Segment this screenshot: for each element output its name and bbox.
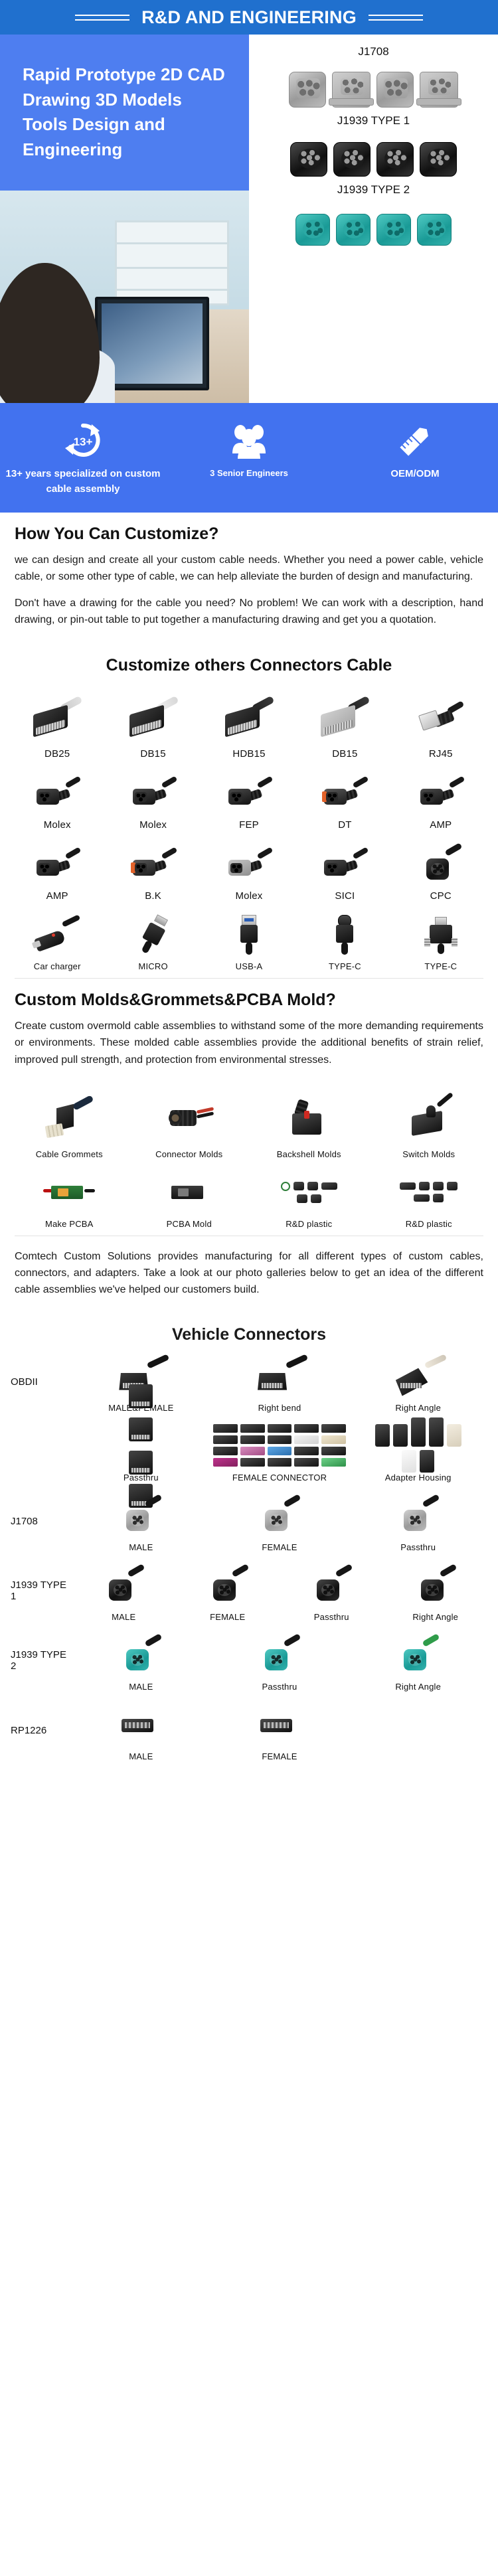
make-pcba-image [11,1168,128,1216]
connector-cell[interactable]: DT [297,764,392,835]
vehicle-row-passthru: Passthru FEMALE CONNECTOR Adapter Hous [0,1417,498,1487]
molds-row-2: Make PCBA PCBA Mold R&D plastic R&D plas… [0,1163,498,1233]
stat-label: 13+ years specialized on custom cable as… [0,461,166,497]
car-charger-image [11,911,104,959]
vehicle-item[interactable]: FEMALE [176,1560,280,1622]
connector-label: Molex [11,817,104,831]
vehicle-row-obdii: OBDII MALE&FEMALE Right bend Right Angle [0,1347,498,1417]
vehicle-connectors-heading: Vehicle Connectors [0,1315,498,1347]
ruler-pencil-icon [332,420,498,461]
pcba-mold-image [131,1168,248,1216]
connector-cell[interactable]: DB25 [9,683,105,764]
j1939-t2-right-angle-image [349,1630,487,1679]
vehicle-row-rp1226: RP1226 MALE FEMALE [0,1696,498,1765]
connector-cell[interactable]: CPC [393,835,489,906]
molds-row-1: Cable Grommets Connector Molds Backshell… [0,1084,498,1163]
connectors-row-3: AMP B.K Molex SICI CPC [0,835,498,906]
stat-oem-odm: OEM/ODM [332,420,498,497]
db15-image [106,688,199,746]
vehicle-item-label: Passthru [349,1540,487,1552]
connector-cell[interactable]: FEP [201,764,297,835]
mold-cell[interactable]: Cable Grommets [9,1084,129,1163]
mold-cell[interactable]: PCBA Mold [129,1163,250,1233]
vehicle-item-label: FEMALE CONNECTOR [210,1470,349,1483]
customize-paragraph-1: we can design and create all your custom… [15,552,483,595]
hero-group-j1708: J1708 [249,39,498,108]
vehicle-item[interactable]: FEMALE [210,1490,349,1552]
connector-label: B.K [106,888,199,902]
vehicle-item-label: Passthru [280,1609,384,1622]
vehicle-item[interactable]: FEMALE [210,1700,349,1761]
connector-cell[interactable]: B.K [105,835,201,906]
vehicle-item[interactable]: Right Angle [384,1560,488,1622]
connector-black-round-icon [420,142,457,177]
molex-image [106,769,199,817]
connector-cell[interactable]: AMP [393,764,489,835]
connector-label: DB15 [298,746,391,760]
obd-right-bend-image [210,1351,349,1400]
connector-label: TYPE-C [394,959,487,971]
connector-gray-round-icon [289,72,326,108]
vehicle-item[interactable]: MALE [72,1490,210,1552]
cpc-image [394,840,487,888]
vehicle-item[interactable]: Passthru [72,1421,210,1483]
connectors-section: Customize others Connectors Cable [0,644,498,683]
vehicle-item-label: Right Angle [349,1400,487,1413]
connector-cell[interactable]: Car charger [9,906,105,975]
vehicle-item-label: FEMALE [210,1540,349,1552]
obd-right-angle-image [349,1351,487,1400]
mold-label: PCBA Mold [131,1216,248,1229]
vehicle-row-j1939-type2: J1939 TYPE 2 MALE Passthru Right Angle [0,1626,498,1696]
solutions-section: Comtech Custom Solutions provides manufa… [0,1236,498,1315]
connector-black-round-icon [290,142,327,177]
molex-image [11,769,104,817]
molex-image [203,840,295,888]
connector-cell[interactable]: TYPE-C [297,906,392,975]
connector-label: TYPE-C [298,959,391,971]
vehicle-row-label: J1708 [11,1516,68,1527]
connector-cell[interactable]: USB-A [201,906,297,975]
female-connector-image [210,1421,349,1470]
connector-cell[interactable]: SICI [297,835,392,906]
j1708-passthru-image [349,1490,487,1540]
amp-image [11,840,104,888]
hdb15-image [203,688,295,746]
vehicle-item-label: FEMALE [210,1749,349,1761]
type-c-image [298,911,391,959]
recycle-13plus-icon: 13+ [0,420,166,461]
mold-cell[interactable]: R&D plastic [249,1163,369,1233]
passthru-image [72,1421,210,1470]
engineering-workstation-photo [0,191,249,403]
connector-label: SICI [298,888,391,902]
vehicle-item[interactable]: MALE [72,1630,210,1692]
j1939-t2-male-image [72,1630,210,1679]
hero-group-j1939-type1: J1939 TYPE 1 [249,108,498,177]
page-banner: R&D AND ENGINEERING [0,0,498,35]
mold-label: R&D plastic [371,1216,488,1229]
svg-text:13+: 13+ [74,436,93,448]
j1939-t1-passthru-image [280,1560,384,1609]
hero-left-column: Rapid Prototype 2D CAD Drawing 3D Models… [0,35,249,403]
vehicle-row-label: J1939 TYPE 2 [11,1649,68,1672]
connector-cell[interactable]: RJ45 [393,683,489,764]
customize-paragraph-2: Don't have a drawing for the cable you n… [15,595,483,638]
vehicle-item-spacer [349,1700,487,1761]
connector-teal-round-icon [376,214,411,246]
molds-section: Custom Molds&Grommets&PCBA Mold? Create … [0,979,498,1084]
vehicle-item[interactable]: Passthru [280,1560,384,1622]
vehicle-item-label: Right Angle [349,1679,487,1692]
sici-image [298,840,391,888]
connectors-heading: Customize others Connectors Cable [15,656,483,683]
vehicle-row-label: RP1226 [11,1725,68,1736]
rp1226-male-image [72,1700,210,1749]
connector-label: Molex [203,888,295,902]
vehicle-item-label: MALE [72,1679,210,1692]
connector-label: DB25 [11,746,104,760]
vehicle-item[interactable]: Right Angle [349,1630,487,1692]
fep-image [203,769,295,817]
banner-rule-right [369,15,423,21]
j1708-female-image [210,1490,349,1540]
vehicle-item[interactable]: Right bend [210,1351,349,1413]
hero-right-column: J1708 J1939 TYPE 1 J1939 TYPE 2 [249,35,498,403]
connector-gray-round-icon [376,72,414,108]
backshell-molds-image [250,1089,368,1147]
vehicle-row-j1708: J1708 MALE FEMALE Passthru [0,1487,498,1556]
connector-label: CPC [394,888,487,902]
mold-cell[interactable]: Backshell Molds [249,1084,369,1163]
connectors-row-4: Car charger MICRO USB-A TYPE-C TYPE-C [0,906,498,975]
vehicle-item-label: FEMALE [176,1609,280,1622]
hero-group-j1939-type2: J1939 TYPE 2 [249,177,498,246]
connector-gray-flange-icon [332,72,371,108]
hero-headline-panel: Rapid Prototype 2D CAD Drawing 3D Models… [0,35,249,191]
mold-cell[interactable]: Connector Molds [129,1084,250,1163]
mold-cell[interactable]: R&D plastic [369,1163,489,1233]
rd-plastic-image [250,1168,368,1216]
mold-cell[interactable]: Switch Molds [369,1084,489,1163]
connector-cell[interactable]: Molex [105,764,201,835]
connector-cell[interactable]: HDB15 [201,683,297,764]
mold-label: Connector Molds [131,1147,248,1159]
db15-gray-image [298,688,391,746]
cable-grommets-image [11,1089,128,1147]
vehicle-item[interactable]: Right Angle [349,1351,487,1413]
connector-label: DB15 [106,746,199,760]
vehicle-item-label: MALE [72,1609,176,1622]
connector-cell[interactable]: AMP [9,835,105,906]
company-stats-band: 13+ 13+ years specialized on custom cabl… [0,403,498,513]
hero-headline: Rapid Prototype 2D CAD Drawing 3D Models… [23,62,226,163]
vehicle-row-j1939-type1: J1939 TYPE 1 MALE FEMALE Passthru Right … [0,1556,498,1626]
connector-black-round-icon [376,142,414,177]
connector-label: DT [298,817,391,831]
rd-plastic-image [371,1168,488,1216]
banner-rule-left [75,15,129,21]
connector-molds-image [131,1089,248,1147]
db25-image [11,688,104,746]
connectors-row-1: DB25 DB15 HDB15 DB15 RJ45 [0,683,498,764]
hero-group-images [249,201,498,246]
connector-label: RJ45 [394,746,487,760]
connector-gray-flange-icon [420,72,458,108]
hero-group-images [249,62,498,108]
connector-label: AMP [11,888,104,902]
vehicle-item[interactable]: Passthru [210,1630,349,1692]
connector-cell[interactable]: DB15 [297,683,392,764]
connector-cell[interactable]: TYPE-C [393,906,489,975]
connector-black-round-icon [333,142,371,177]
mold-label: Backshell Molds [250,1147,368,1159]
amp-image [394,769,487,817]
vehicle-item[interactable]: Passthru [349,1490,487,1552]
mold-label: R&D plastic [250,1216,368,1229]
vehicle-item-label: MALE [72,1540,210,1552]
connector-teal-round-icon [336,214,371,246]
j1708-male-image [72,1490,210,1540]
bk-image [106,840,199,888]
connector-label: Car charger [11,959,104,971]
customize-section: How You Can Customize? we can design and… [0,513,498,644]
vehicle-item[interactable]: MALE [72,1700,210,1761]
rp1226-female-image [210,1700,349,1749]
connector-label: HDB15 [203,746,295,760]
molds-paragraph: Create custom overmold cable assemblies … [15,1018,483,1078]
stat-years-experience: 13+ 13+ years specialized on custom cabl… [0,420,166,497]
connector-label: MICRO [106,959,199,971]
molds-heading: Custom Molds&Grommets&PCBA Mold? [15,991,483,1018]
solutions-paragraph: Comtech Custom Solutions provides manufa… [15,1248,483,1308]
usb-a-image [203,911,295,959]
banner-title: R&D AND ENGINEERING [141,7,357,28]
mold-label: Cable Grommets [11,1147,128,1159]
mold-label: Switch Molds [371,1147,488,1159]
j1939-t1-male-image [72,1560,176,1609]
connector-cell[interactable]: Molex [9,764,105,835]
connector-label: USB-A [203,959,295,971]
connector-label: AMP [394,817,487,831]
vehicle-item[interactable]: Adapter Housing [349,1421,487,1483]
vehicle-item[interactable]: MALE [72,1560,176,1622]
switch-molds-image [371,1089,488,1147]
j1939-t2-passthru-image [210,1630,349,1679]
hero-group-title: J1708 [249,39,498,62]
connectors-row-2: Molex Molex FEP DT AMP [0,764,498,835]
hero-group-title: J1939 TYPE 2 [249,177,498,201]
engineers-group-icon [166,420,332,461]
stat-label: OEM/ODM [332,461,498,482]
vehicle-row-label: OBDII [11,1376,68,1388]
vehicle-item-label: Right Angle [384,1609,488,1622]
micro-usb-image [106,911,199,959]
connector-teal-round-icon [417,214,452,246]
mold-cell[interactable]: Make PCBA [9,1163,129,1233]
connector-cell[interactable]: DB15 [105,683,201,764]
adapter-housing-image [349,1421,487,1470]
dt-image [298,769,391,817]
type-c-screwlock-image [394,911,487,959]
vehicle-item-label: Passthru [210,1679,349,1692]
hero-group-title: J1939 TYPE 1 [249,108,498,131]
j1939-t1-right-angle-image [384,1560,488,1609]
hero-section: Rapid Prototype 2D CAD Drawing 3D Models… [0,35,498,403]
vehicle-item-label: MALE [72,1749,210,1761]
connector-cell[interactable]: Molex [201,835,297,906]
j1939-t1-female-image [176,1560,280,1609]
vehicle-row-label: J1939 TYPE 1 [11,1579,68,1602]
stat-label: 3 Senior Engineers [166,461,332,480]
connector-cell[interactable]: MICRO [105,906,201,975]
hero-group-images [249,131,498,177]
vehicle-item-label: Right bend [210,1400,349,1413]
mold-label: Make PCBA [11,1216,128,1229]
connector-teal-round-icon [295,214,330,246]
customize-heading: How You Can Customize? [15,524,483,552]
vehicle-item[interactable]: FEMALE CONNECTOR [210,1421,349,1483]
connector-label: Molex [106,817,199,831]
connector-label: FEP [203,817,295,831]
stat-senior-engineers: 3 Senior Engineers [166,420,332,497]
rj45-image [394,688,487,746]
